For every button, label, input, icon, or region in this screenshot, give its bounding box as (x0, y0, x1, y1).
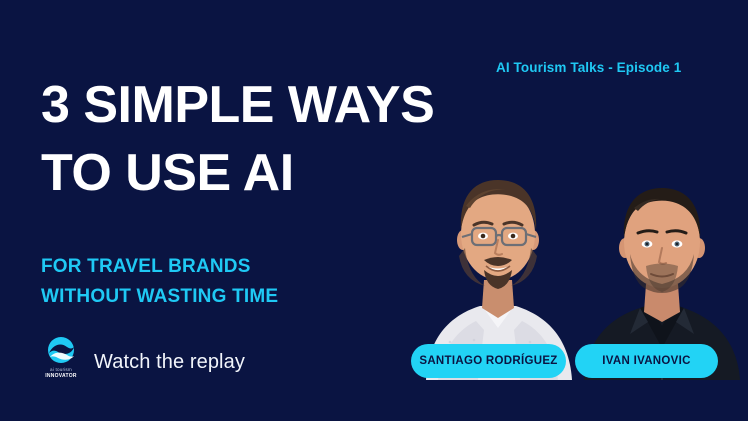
watch-replay-cta[interactable]: Watch the replay (94, 351, 245, 374)
episode-label: AI Tourism Talks - Episode 1 (496, 60, 681, 75)
subheadline: FOR TRAVEL BRANDS WITHOUT WASTING TIME (41, 252, 381, 312)
brand-wordmark-bottom: INNOVATOR (45, 373, 76, 380)
page-title: 3 SIMPLE WAYS TO USE AI (41, 71, 471, 207)
subheadline-line-1: FOR TRAVEL BRANDS (41, 252, 381, 282)
speaker-name-badge-ivan-ivanovic: IVAN IVANOVIC (575, 344, 718, 378)
wave-circle-logo-icon (44, 336, 78, 366)
subheadline-line-2: WITHOUT WASTING TIME (41, 282, 381, 312)
headline-line-2: TO USE AI (41, 139, 471, 207)
speaker-name-badge-santiago-rodriguez: SANTIAGO RODRÍGUEZ (411, 344, 566, 378)
footer-brand[interactable]: ai tourism INNOVATOR Watch the replay (38, 336, 245, 380)
headline-line-1: 3 SIMPLE WAYS (41, 71, 471, 139)
promo-banner: AI Tourism Talks - Episode 1 3 SIMPLE WA… (0, 0, 748, 421)
brand-logo-lockup[interactable]: ai tourism INNOVATOR (38, 336, 84, 380)
